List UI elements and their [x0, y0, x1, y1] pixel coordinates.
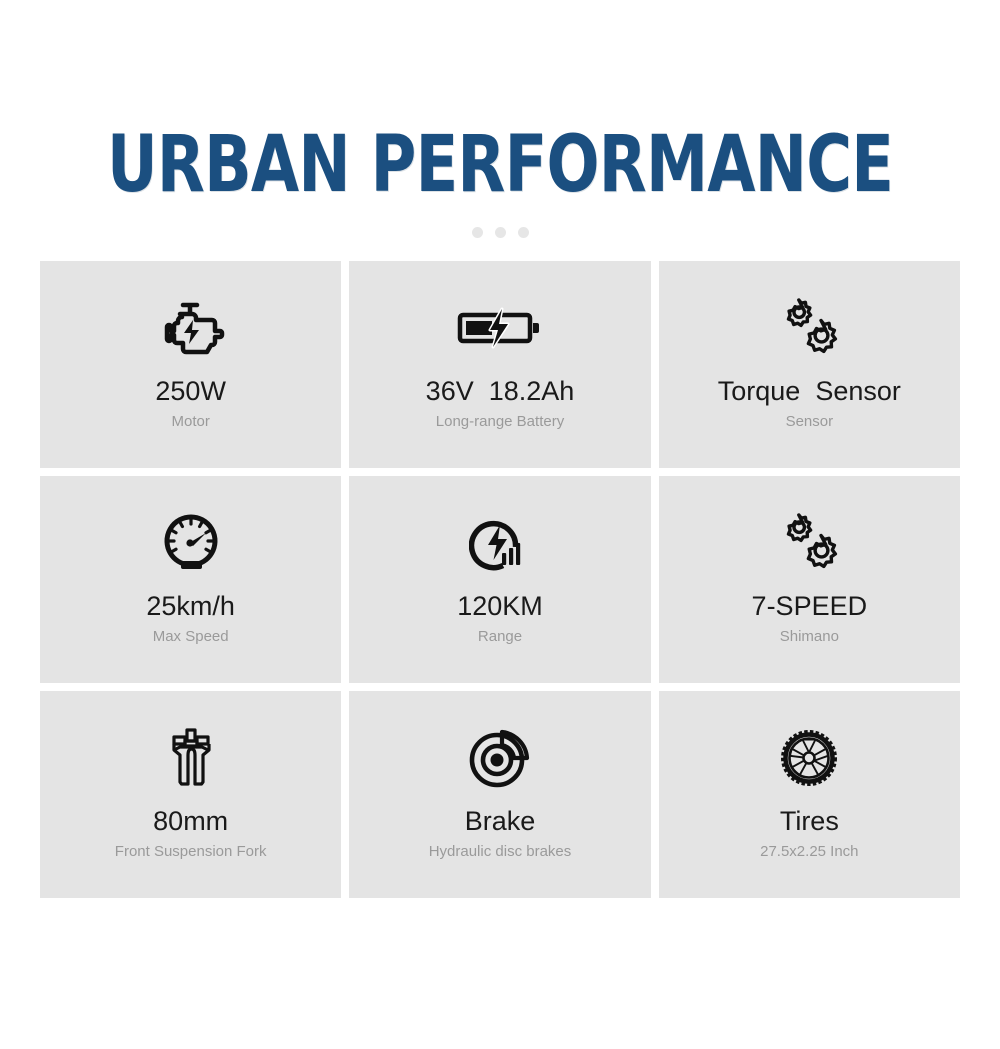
gears-icon: [775, 512, 843, 574]
spec-value: 80mm: [153, 805, 228, 837]
spec-card-range: 120KM Range: [349, 476, 650, 683]
page-title: URBAN PERFORMANCE: [100, 122, 900, 208]
spec-label: Motor: [171, 412, 209, 432]
product-spec-page: URBAN PERFORMANCE 250W Motor: [0, 0, 1000, 1049]
spec-label: Max Speed: [153, 627, 229, 647]
spec-card-speed-gears: 7-SPEED Shimano: [659, 476, 960, 683]
hero-section: URBAN PERFORMANCE: [0, 0, 1000, 238]
spec-value: 250W: [155, 375, 226, 407]
spec-card-tires: Tires 27.5x2.25 Inch: [659, 691, 960, 898]
spec-value: 25km/h: [146, 590, 235, 622]
spec-card-battery: 36V 18.2Ah Long-range Battery: [349, 261, 650, 468]
suspension-fork-icon: [167, 727, 215, 789]
spec-label: 27.5x2.25 Inch: [760, 842, 858, 862]
engine-motor-icon: [153, 297, 229, 359]
spec-card-suspension-fork: 80mm Front Suspension Fork: [40, 691, 341, 898]
spec-value: Tires: [780, 805, 839, 837]
spec-label: Range: [478, 627, 522, 647]
spec-label: Hydraulic disc brakes: [429, 842, 572, 862]
spec-value: Brake: [465, 805, 536, 837]
spec-label: Front Suspension Fork: [115, 842, 267, 862]
brake-disc-icon: [469, 727, 531, 789]
spec-value: Torque Sensor: [718, 375, 901, 407]
battery-charging-icon: [457, 297, 543, 359]
spec-value: 7-SPEED: [752, 590, 868, 622]
carousel-dot-2[interactable]: [495, 227, 506, 238]
speedometer-icon: [159, 512, 223, 574]
gears-icon: [775, 297, 843, 359]
range-bolt-bars-icon: [469, 512, 531, 574]
carousel-dots[interactable]: [0, 226, 1000, 238]
spec-card-motor: 250W Motor: [40, 261, 341, 468]
spec-grid: 250W Motor 36V 18.2Ah Long-range Battery: [40, 261, 960, 898]
spec-label: Sensor: [786, 412, 834, 432]
spec-card-brake: Brake Hydraulic disc brakes: [349, 691, 650, 898]
spec-label: Shimano: [780, 627, 839, 647]
spec-card-torque-sensor: Torque Sensor Sensor: [659, 261, 960, 468]
tire-wheel-icon: [780, 727, 838, 789]
spec-value: 120KM: [457, 590, 543, 622]
spec-value: 36V 18.2Ah: [426, 375, 575, 407]
carousel-dot-1[interactable]: [472, 227, 483, 238]
spec-card-max-speed: 25km/h Max Speed: [40, 476, 341, 683]
spec-label: Long-range Battery: [436, 412, 564, 432]
carousel-dot-3[interactable]: [518, 227, 529, 238]
